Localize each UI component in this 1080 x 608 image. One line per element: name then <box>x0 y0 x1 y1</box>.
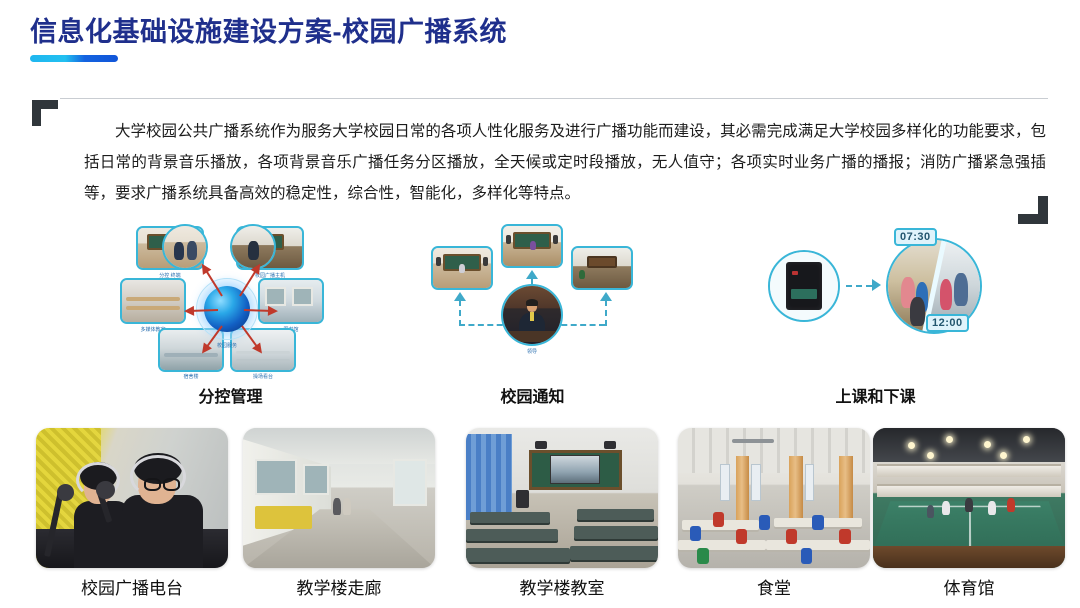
diagram-class-schedule: 07:30 12:00 上课和下课 <box>758 222 993 407</box>
diagram-device-circle <box>768 250 840 322</box>
diagram-classroom-card <box>501 224 563 268</box>
photo-cell-canteen: 食堂 <box>678 428 870 568</box>
diagram-node-circle <box>230 224 276 270</box>
diagram-sub-control-art: 分控 终端 校园广播主机 <box>118 222 343 370</box>
diagram-classroom-card <box>431 246 493 290</box>
diagram-class-schedule-art: 07:30 12:00 <box>758 222 993 370</box>
intro-paragraph: 大学校园公共广播系统作为服务大学校园日常的各项人性化服务及进行广播功能而建设，其… <box>84 116 1046 209</box>
dashed-arrow-icon <box>600 292 612 301</box>
photo-broadcast-station <box>36 428 228 568</box>
dashed-arrow-icon <box>526 270 538 279</box>
glasses-icon <box>163 478 180 491</box>
time-badge-end: 12:00 <box>926 314 969 332</box>
ceiling-light-icon <box>927 452 934 459</box>
diagram-sub-control: 分控 终端 校园广播主机 <box>118 222 343 407</box>
diagram-label-campus-notice: 校园通知 <box>425 383 640 407</box>
photo-cell-classroom: 教学楼教室 <box>466 428 658 568</box>
speaker-icon <box>516 490 529 508</box>
dashed-connector <box>846 285 872 287</box>
photo-classroom <box>466 428 658 568</box>
microphone-icon <box>96 481 115 499</box>
photo-caption-gymnasium: 体育馆 <box>873 574 1065 599</box>
dashed-connector <box>459 300 461 326</box>
diagram-campus-notice: 领导 校园通知 <box>425 222 640 407</box>
dashed-arrow-icon <box>872 279 881 291</box>
dashed-connector <box>605 300 607 326</box>
slide-root: 信息化基础设施建设方案-校园广播系统 大学校园公共广播系统作为服务大学校园日常的… <box>0 0 1080 608</box>
photo-cell-broadcast-station: 校园广播电台 <box>36 428 228 568</box>
photo-caption-broadcast-station: 校园广播电台 <box>36 574 228 599</box>
microphone-icon <box>57 484 74 501</box>
photo-caption-corridor: 教学楼走廊 <box>243 574 435 599</box>
speaker-icon <box>604 441 616 449</box>
time-badge-start: 07:30 <box>894 228 937 246</box>
photo-caption-canteen: 食堂 <box>678 574 870 599</box>
ceiling-light-icon <box>984 441 991 448</box>
photo-cell-gymnasium: 体育馆 <box>873 428 1065 568</box>
diagram-hall-card <box>571 246 633 290</box>
diagram-node-card <box>258 278 324 324</box>
ceiling-light-icon <box>908 442 915 449</box>
diagram-label-class-schedule: 上课和下课 <box>758 383 993 407</box>
page-title: 信息化基础设施建设方案-校园广播系统 <box>30 18 507 48</box>
photo-gymnasium <box>873 428 1065 568</box>
diagram-leader-circle <box>501 284 563 346</box>
photo-cell-corridor: 教学楼走廊 <box>243 428 435 568</box>
photo-caption-classroom: 教学楼教室 <box>466 574 658 599</box>
diagram-node-caption: 操场看台 <box>230 373 296 380</box>
diagram-leader-caption: 领导 <box>501 348 563 355</box>
title-accent-bar <box>30 55 118 62</box>
photo-corridor <box>243 428 435 568</box>
diagram-node-card <box>120 278 186 324</box>
diagram-label-sub-control: 分控管理 <box>118 383 343 407</box>
diagram-node-caption: 宿舍楼 <box>158 373 224 380</box>
photo-canteen <box>678 428 870 568</box>
photo-row: 校园广播电台 教学楼走廊 <box>0 428 1080 608</box>
corner-bracket-top-left-icon <box>32 100 58 126</box>
ceiling-light-icon <box>1000 452 1007 459</box>
diagram-campus-notice-art: 领导 <box>425 222 640 370</box>
page-title-block: 信息化基础设施建设方案-校园广播系统 <box>30 18 507 62</box>
intro-divider-line <box>60 98 1048 99</box>
intro-panel: 大学校园公共广播系统作为服务大学校园日常的各项人性化服务及进行广播功能而建设，其… <box>32 98 1048 216</box>
diagram-row: 分控 终端 校园广播主机 <box>0 222 1080 407</box>
speaker-icon <box>535 441 547 449</box>
glasses-icon <box>144 478 161 491</box>
broadcast-device-icon <box>786 262 821 311</box>
headphones-icon <box>130 455 186 498</box>
dashed-arrow-icon <box>454 292 466 301</box>
ceiling-fan-icon <box>732 439 774 443</box>
